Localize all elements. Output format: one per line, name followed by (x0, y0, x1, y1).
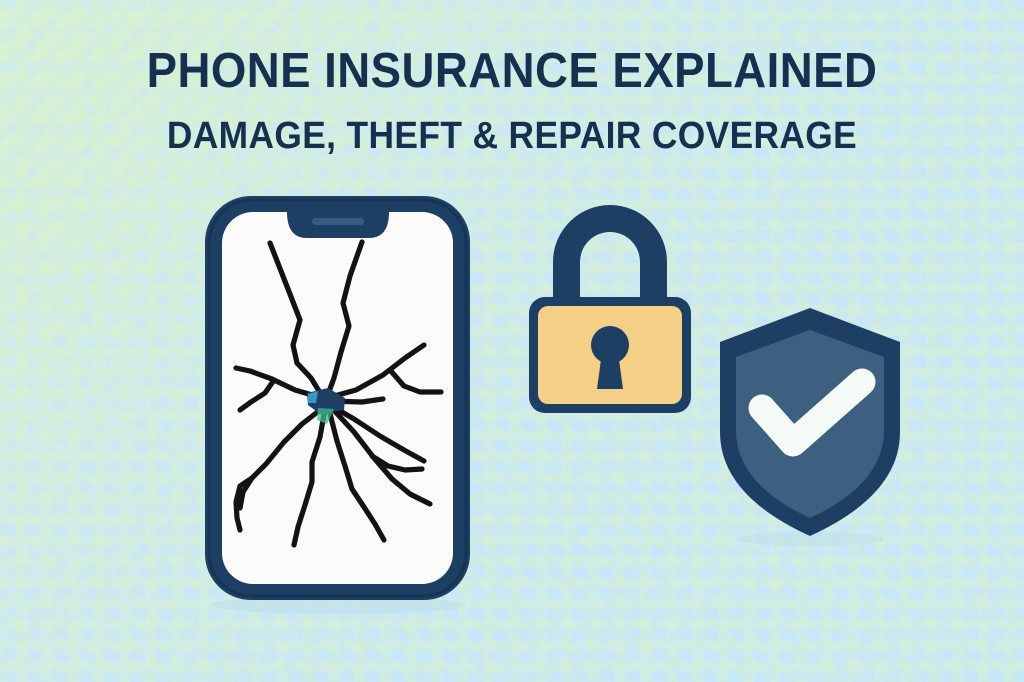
page-subtitle: DAMAGE, THEFT & REPAIR COVERAGE (36, 116, 988, 156)
page-title: PHONE INSURANCE EXPLAINED (36, 46, 988, 96)
padlock-icon (529, 205, 691, 413)
phone-speaker-slit (312, 218, 364, 225)
cracked-phone-icon (205, 196, 470, 600)
shield-check-icon (720, 308, 900, 536)
banner-image: PHONE INSURANCE EXPLAINED DAMAGE, THEFT … (0, 0, 1024, 682)
illustration-group (0, 0, 1024, 682)
